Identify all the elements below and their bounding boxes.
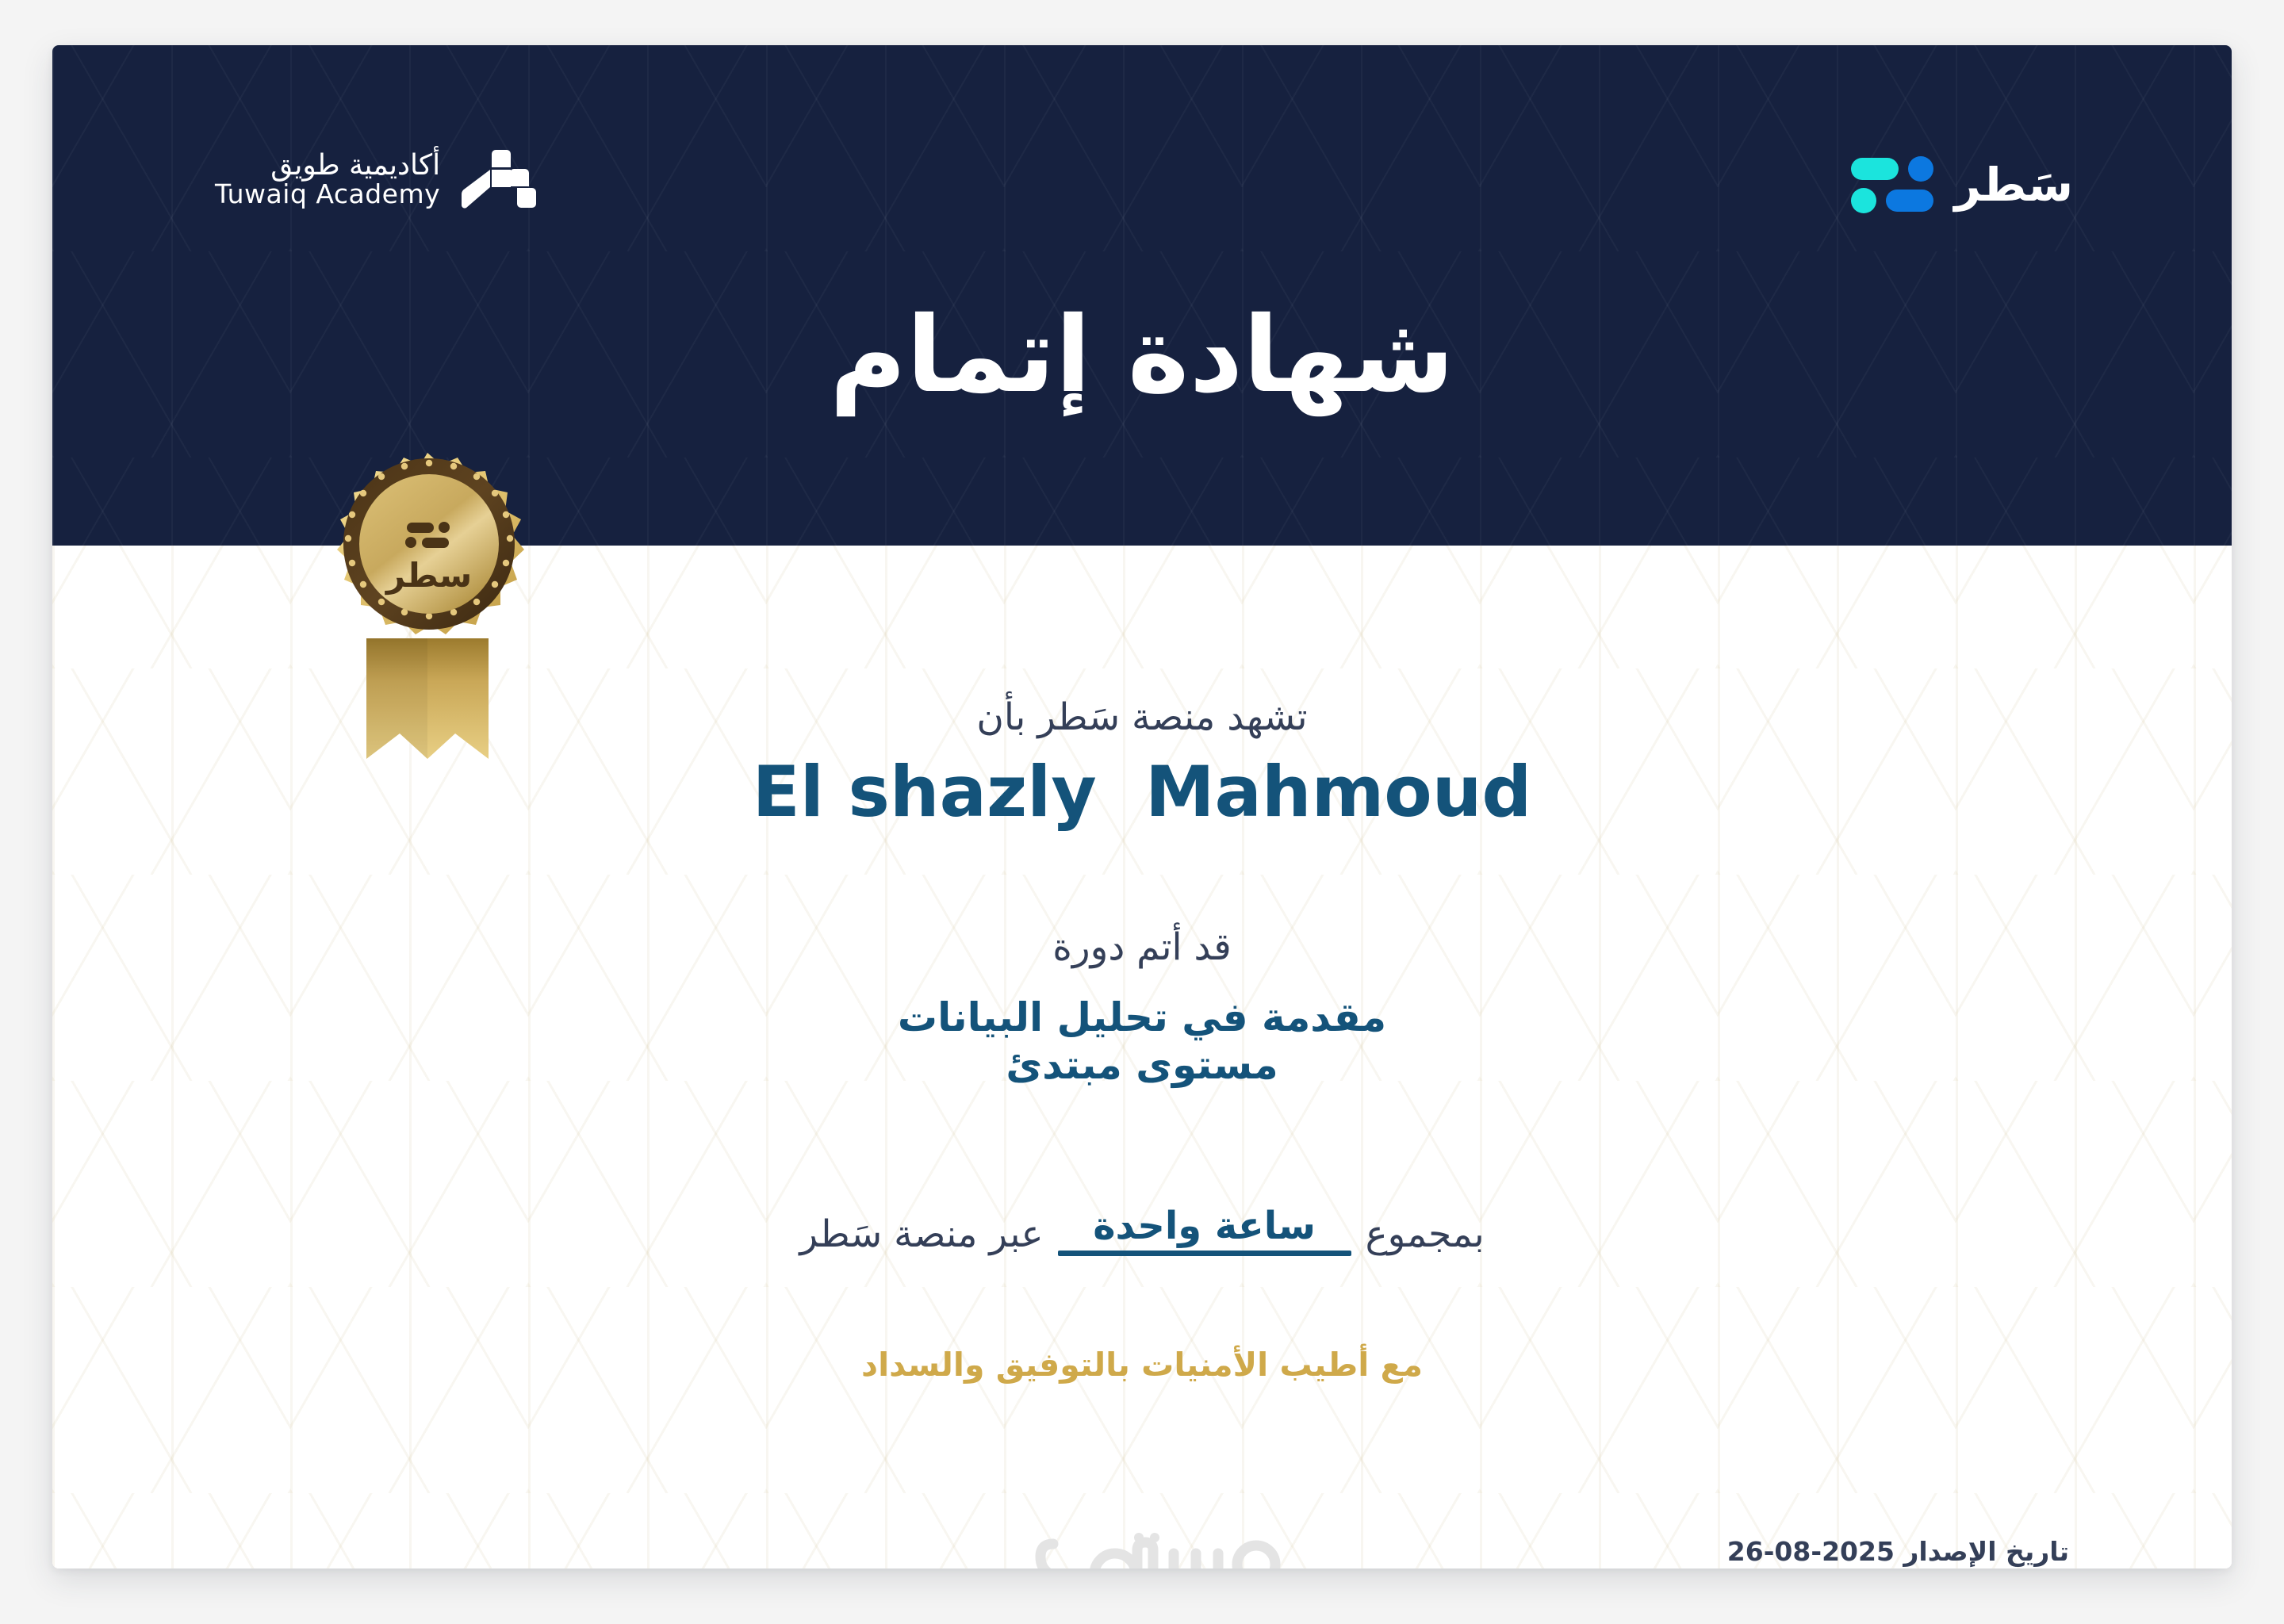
issue-date: تاريخ الإصدار 2025-08-26	[1727, 1536, 2069, 1567]
gold-medal-badge: سطر	[305, 448, 550, 765]
tuwaiq-wordmark: أكاديمية طويق Tuwaiq Academy	[215, 151, 440, 208]
certificate-card: أكاديمية طويق Tuwaiq Academy سَطر شهادة	[52, 45, 2232, 1568]
total-hours-row: بمجموع ساعة واحدة عبر منصة سَطر	[52, 1207, 2232, 1256]
wishes-line: مع أطيب الأمنيات بالتوفيق والسداد	[52, 1346, 2232, 1384]
medal-ribbon	[366, 638, 489, 759]
tuwaiq-arabic-name: أكاديمية طويق	[270, 151, 440, 180]
hours-value: ساعة واحدة	[1093, 1207, 1316, 1245]
hours-value-field: ساعة واحدة	[1058, 1207, 1351, 1256]
completion-line: قد أتم دورة	[52, 925, 2232, 969]
hours-prefix-label: بمجموع	[1366, 1216, 1485, 1256]
satr-platform-logo: سَطر	[1851, 156, 2073, 213]
tuwaiq-mountain-icon	[461, 148, 537, 210]
satr-wordmark: سَطر	[1954, 162, 2073, 208]
page-title: شهادة إتمام	[52, 297, 2232, 415]
course-level: مستوى مبتدئ	[52, 1040, 2232, 1090]
medal-label: سطر	[385, 556, 472, 596]
hours-suffix-label: عبر منصة سَطر	[799, 1216, 1043, 1256]
course-title: مقدمة في تحليل البيانات	[52, 993, 2232, 1043]
tuwaiq-english-name: Tuwaiq Academy	[215, 181, 440, 208]
tuwaiq-academy-logo: أكاديمية طويق Tuwaiq Academy	[215, 148, 537, 210]
satr-blocks-icon	[1851, 156, 1933, 213]
